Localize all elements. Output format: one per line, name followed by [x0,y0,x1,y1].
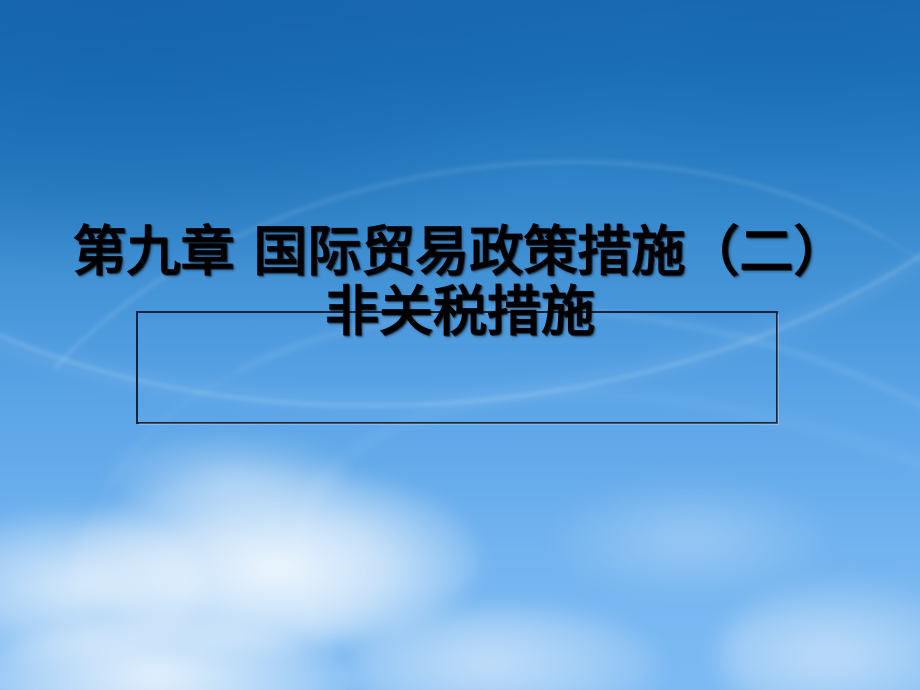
presentation-slide: 第九章 国际贸易政策措施（二） 非关税措施 [0,0,920,690]
background-top-right-wash [368,0,920,207]
slide-title-line-1: 第九章 国际贸易政策措施（二） [0,222,920,282]
slide-title-line-2: 非关税措施 [0,282,920,342]
slide-title[interactable]: 第九章 国际贸易政策措施（二） 非关税措施 [0,222,920,342]
